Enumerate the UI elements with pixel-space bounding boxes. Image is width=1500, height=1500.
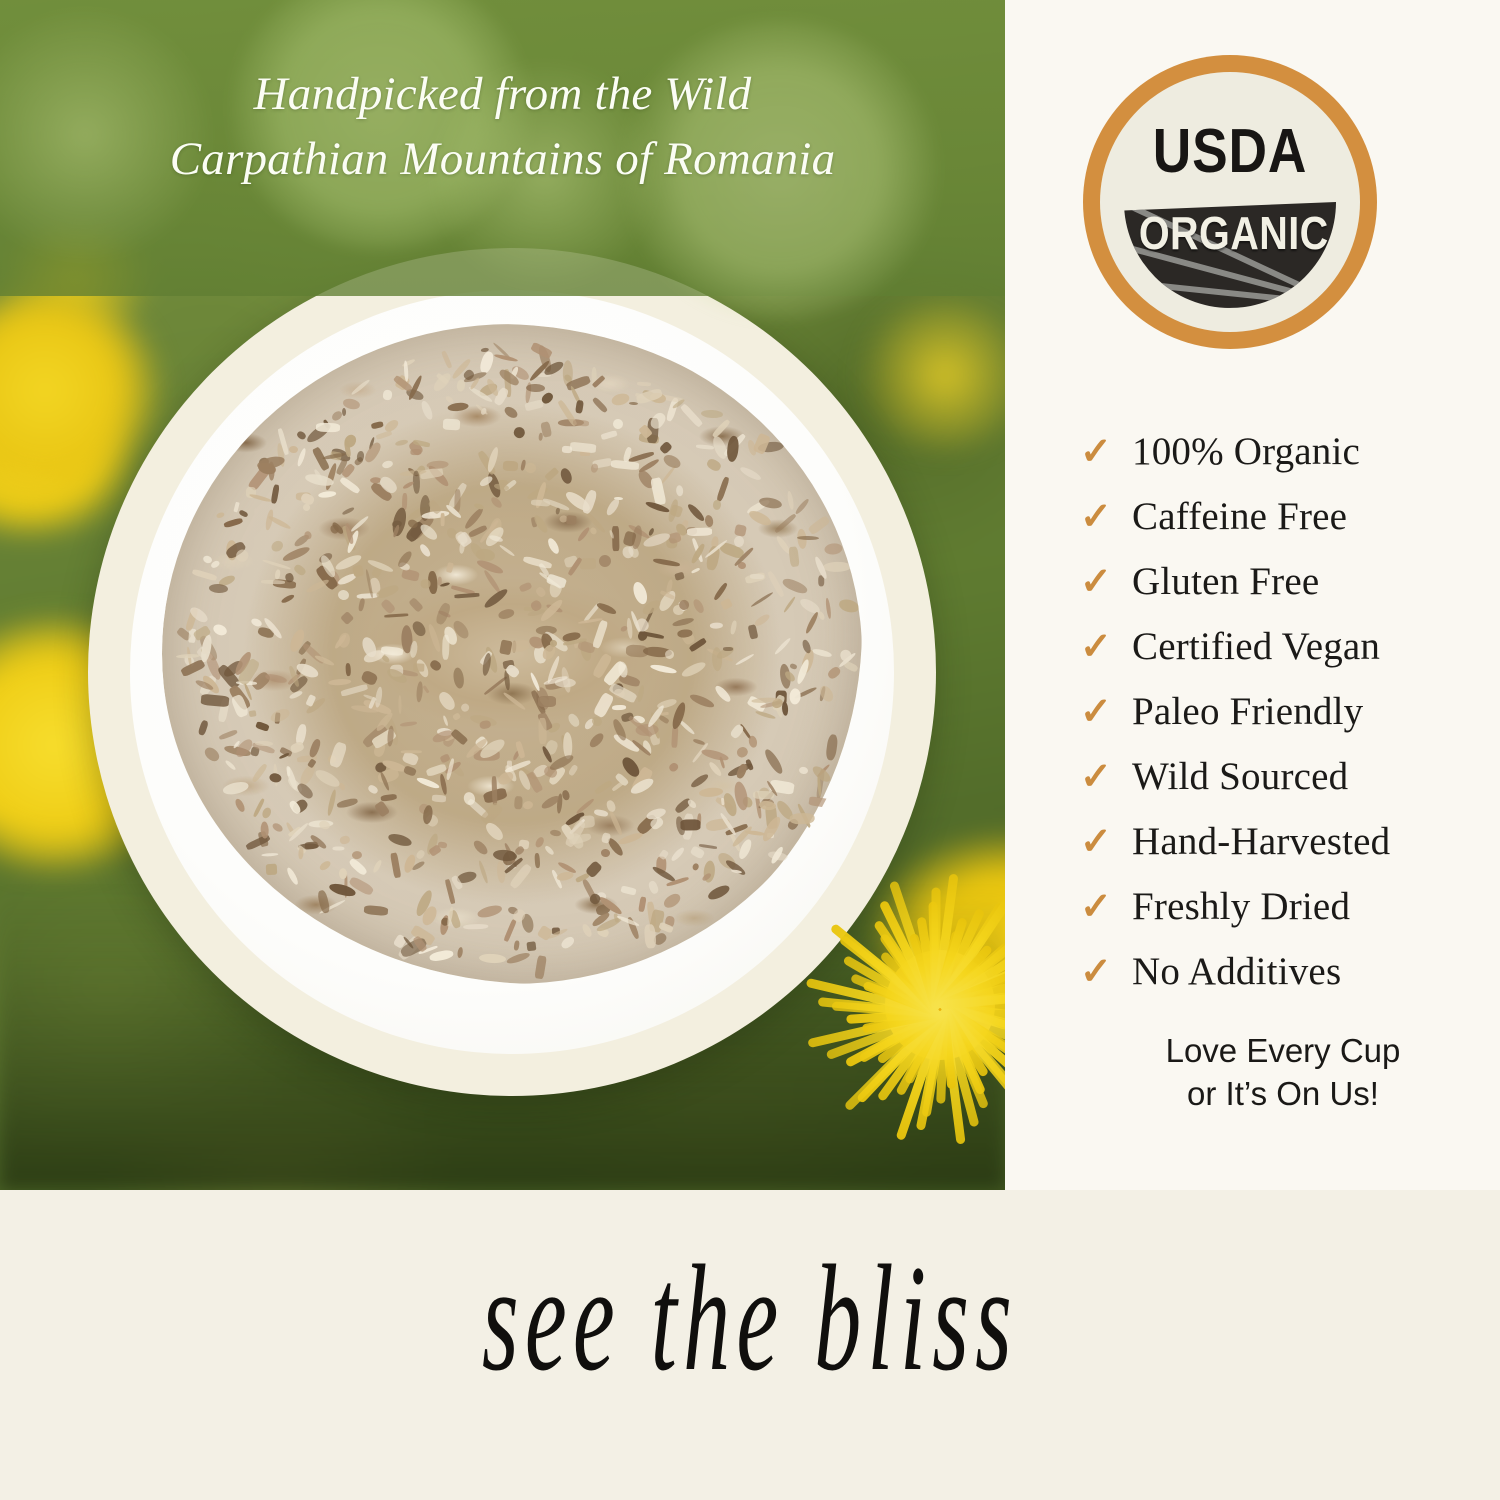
root-piece	[463, 924, 488, 930]
root-piece	[423, 686, 430, 695]
check-icon: ✓	[1080, 888, 1132, 926]
root-piece	[210, 560, 221, 570]
root-piece	[400, 721, 417, 727]
root-piece	[299, 848, 305, 861]
root-piece	[391, 852, 402, 878]
root-piece	[425, 763, 447, 777]
root-piece	[203, 745, 222, 764]
root-piece	[558, 467, 573, 486]
root-piece	[560, 935, 576, 951]
root-piece	[317, 889, 332, 914]
root-piece	[403, 765, 417, 777]
root-piece	[429, 659, 444, 673]
root-piece	[427, 624, 442, 653]
root-piece	[676, 485, 684, 497]
root-piece	[595, 601, 617, 616]
root-piece	[691, 567, 701, 574]
root-piece	[592, 620, 609, 649]
root-piece	[261, 852, 279, 856]
root-piece	[705, 457, 722, 472]
guarantee-line-1: Love Every Cup	[1083, 1030, 1483, 1073]
root-piece	[456, 379, 466, 391]
root-piece	[561, 790, 570, 802]
root-piece	[661, 891, 682, 910]
root-piece	[632, 580, 650, 605]
root-piece	[362, 440, 383, 464]
root-piece	[356, 451, 365, 462]
root-piece	[823, 542, 843, 555]
root-piece	[431, 371, 454, 394]
root-piece	[208, 583, 227, 593]
root-piece	[326, 789, 337, 817]
root-piece	[408, 597, 424, 613]
root-piece	[731, 621, 738, 635]
root-piece	[566, 515, 577, 525]
root-piece	[801, 639, 812, 654]
list-item: ✓No Additives	[1080, 952, 1500, 1017]
root-piece	[329, 741, 348, 768]
root-piece	[337, 798, 359, 809]
root-piece	[754, 613, 771, 628]
root-piece	[342, 408, 346, 416]
root-piece	[588, 731, 606, 750]
root-piece	[738, 465, 761, 482]
root-piece	[774, 513, 797, 534]
check-icon: ✓	[1080, 433, 1132, 471]
root-piece	[714, 684, 733, 704]
guarantee-line-2: or It’s On Us!	[1083, 1073, 1483, 1116]
root-piece	[723, 647, 733, 651]
root-piece	[318, 490, 337, 499]
root-piece	[215, 512, 225, 519]
check-icon: ✓	[1080, 823, 1132, 861]
root-piece	[513, 941, 519, 951]
root-piece	[394, 439, 408, 447]
root-piece	[611, 392, 631, 407]
root-piece	[360, 635, 379, 658]
root-piece	[680, 404, 704, 429]
root-piece	[409, 640, 418, 658]
root-piece	[658, 441, 673, 456]
check-icon: ✓	[1080, 693, 1132, 731]
root-piece	[176, 653, 200, 658]
root-piece	[238, 509, 248, 518]
brand-tagline: see the bliss	[285, 1242, 1215, 1394]
root-piece	[609, 810, 624, 836]
root-piece	[484, 820, 506, 843]
root-piece	[372, 859, 383, 874]
root-piece	[629, 776, 655, 797]
root-piece	[443, 715, 450, 726]
root-piece	[591, 397, 608, 414]
root-piece	[526, 941, 536, 951]
headline-line-1: Handpicked from the Wild	[0, 62, 1005, 127]
root-piece	[432, 794, 447, 802]
root-piece	[653, 557, 680, 567]
root-piece	[576, 526, 590, 543]
root-piece	[686, 502, 706, 523]
check-icon: ✓	[1080, 498, 1132, 536]
feature-list: ✓100% Organic✓Caffeine Free✓Gluten Free✓…	[1080, 432, 1500, 1017]
root-piece	[288, 446, 297, 454]
root-piece	[318, 859, 332, 872]
root-piece	[337, 590, 349, 601]
root-piece	[327, 678, 351, 686]
root-piece	[440, 513, 444, 526]
root-piece	[794, 498, 810, 515]
root-piece	[593, 780, 612, 796]
root-piece	[332, 846, 344, 850]
root-piece	[451, 728, 469, 745]
root-piece	[307, 737, 322, 758]
root-piece	[782, 701, 789, 716]
root-piece	[671, 727, 679, 748]
seal-inner-ring: USDA ORGANIC	[1100, 72, 1360, 332]
root-piece	[680, 659, 707, 678]
root-piece	[720, 598, 733, 611]
root-piece	[506, 951, 531, 965]
root-piece	[582, 489, 599, 514]
root-piece	[760, 815, 783, 844]
root-piece	[503, 404, 520, 419]
root-piece	[688, 692, 715, 710]
root-piece	[693, 738, 706, 745]
root-piece	[667, 761, 679, 773]
root-piece	[499, 544, 515, 557]
root-piece	[590, 463, 599, 474]
root-piece	[747, 508, 773, 528]
seal-organic-text: ORGANIC	[1139, 206, 1321, 260]
root-piece	[544, 845, 555, 856]
root-piece	[269, 706, 292, 724]
root-piece	[711, 419, 730, 439]
root-piece	[734, 523, 747, 536]
root-piece	[223, 518, 243, 529]
root-piece	[593, 692, 615, 718]
root-piece	[535, 955, 548, 979]
root-piece	[575, 798, 595, 815]
root-piece	[535, 586, 547, 598]
root-piece	[251, 763, 268, 784]
root-texture	[162, 324, 862, 984]
root-piece	[753, 791, 774, 800]
check-icon: ✓	[1080, 628, 1132, 666]
root-piece	[452, 667, 465, 689]
root-piece	[706, 884, 731, 903]
root-piece	[419, 400, 434, 421]
root-piece	[418, 542, 432, 558]
root-piece	[481, 652, 492, 676]
root-piece	[593, 809, 608, 818]
root-piece	[297, 448, 308, 468]
root-piece	[597, 553, 613, 569]
root-piece	[567, 712, 582, 729]
root-piece	[680, 820, 701, 831]
root-piece	[549, 829, 560, 837]
root-piece	[523, 556, 553, 570]
root-piece	[729, 723, 745, 740]
root-piece	[415, 776, 440, 791]
list-item-label: Certified Vegan	[1132, 627, 1380, 666]
check-icon: ✓	[1080, 758, 1132, 796]
root-piece	[735, 763, 749, 780]
root-piece	[789, 547, 801, 568]
root-piece	[755, 710, 777, 720]
list-item-label: No Additives	[1132, 952, 1341, 991]
root-piece	[249, 710, 257, 717]
root-piece	[699, 787, 724, 798]
root-piece	[502, 460, 518, 471]
root-piece	[387, 832, 413, 848]
root-piece	[459, 703, 470, 714]
root-piece	[748, 735, 758, 748]
root-piece	[476, 903, 503, 919]
product-photo: Handpicked from the Wild Carpathian Moun…	[0, 0, 1005, 1190]
root-piece	[382, 389, 392, 401]
root-piece	[701, 410, 723, 419]
root-piece	[350, 378, 370, 396]
root-piece	[601, 848, 611, 857]
root-piece	[299, 491, 315, 506]
root-piece	[288, 690, 303, 701]
root-piece	[783, 596, 796, 613]
root-piece	[415, 849, 426, 860]
root-piece	[601, 430, 618, 440]
root-piece	[533, 513, 551, 534]
root-piece	[479, 720, 492, 730]
list-item-label: Hand-Harvested	[1132, 822, 1390, 861]
root-piece	[285, 867, 299, 886]
root-piece	[522, 801, 533, 810]
headline-line-2: Carpathian Mountains of Romania	[0, 127, 1005, 192]
root-piece	[789, 663, 797, 670]
check-icon: ✓	[1080, 563, 1132, 601]
root-piece	[573, 419, 590, 426]
root-piece	[669, 845, 685, 862]
root-piece	[345, 663, 351, 676]
root-piece	[428, 949, 454, 963]
root-piece	[613, 418, 624, 428]
seal-usda-text: USDA	[1139, 116, 1321, 187]
root-piece	[690, 772, 710, 789]
root-piece	[773, 637, 791, 655]
root-piece	[636, 685, 645, 703]
root-piece	[692, 862, 700, 871]
root-piece	[544, 468, 559, 482]
product-infographic: Handpicked from the Wild Carpathian Moun…	[0, 0, 1500, 1500]
root-piece	[350, 515, 370, 533]
root-piece	[367, 784, 379, 795]
list-item-label: Gluten Free	[1132, 562, 1319, 601]
root-piece	[504, 919, 517, 942]
root-piece	[575, 400, 584, 414]
root-piece	[790, 812, 815, 824]
root-piece	[513, 425, 528, 439]
root-piece	[442, 419, 459, 431]
root-piece	[704, 514, 714, 527]
root-piece	[340, 611, 355, 626]
list-item-label: Caffeine Free	[1132, 497, 1347, 536]
root-piece	[275, 569, 281, 579]
root-piece	[384, 613, 408, 618]
root-piece	[370, 420, 383, 429]
root-piece	[452, 713, 461, 722]
root-piece	[471, 838, 490, 857]
headline: Handpicked from the Wild Carpathian Moun…	[0, 62, 1005, 192]
root-piece	[837, 597, 860, 614]
root-piece	[675, 572, 685, 581]
root-piece	[437, 576, 442, 585]
root-piece	[699, 844, 717, 850]
root-piece	[315, 423, 340, 433]
root-piece	[710, 623, 723, 629]
root-piece	[441, 350, 452, 368]
root-piece	[734, 536, 744, 547]
root-piece	[638, 896, 647, 911]
root-piece	[827, 665, 842, 680]
root-piece	[249, 493, 272, 503]
root-piece	[725, 435, 739, 462]
root-piece	[817, 684, 835, 704]
root-piece	[686, 798, 697, 809]
root-piece	[266, 864, 277, 876]
root-piece	[672, 617, 695, 628]
root-piece	[224, 760, 236, 772]
root-piece	[497, 608, 515, 621]
root-piece	[458, 947, 464, 958]
root-piece	[787, 491, 795, 511]
root-piece	[805, 611, 820, 635]
root-piece	[612, 705, 626, 711]
root-piece	[269, 773, 282, 784]
list-item: ✓Caffeine Free	[1080, 497, 1500, 562]
root-piece	[342, 507, 355, 516]
root-piece	[690, 542, 706, 564]
seal-face: USDA ORGANIC	[1124, 96, 1336, 308]
root-piece	[664, 649, 676, 661]
list-item: ✓Hand-Harvested	[1080, 822, 1500, 887]
list-item: ✓Freshly Dried	[1080, 887, 1500, 952]
root-piece	[763, 748, 785, 776]
root-piece	[401, 750, 422, 753]
root-piece	[374, 800, 390, 817]
root-piece	[415, 681, 423, 703]
root-piece	[659, 714, 670, 724]
root-piece	[477, 860, 489, 885]
root-piece	[520, 582, 533, 593]
root-piece	[219, 729, 238, 741]
root-piece	[524, 462, 537, 474]
list-item-label: Paleo Friendly	[1132, 692, 1363, 731]
bowl-interior	[130, 290, 894, 1054]
root-piece	[568, 764, 579, 776]
root-piece	[534, 853, 540, 868]
list-item: ✓Wild Sourced	[1080, 757, 1500, 822]
root-piece	[479, 350, 496, 374]
root-piece	[691, 598, 706, 615]
list-item: ✓Paleo Friendly	[1080, 692, 1500, 757]
brand-band: see the bliss	[0, 1190, 1500, 1500]
root-piece	[271, 485, 280, 504]
root-piece	[339, 835, 350, 845]
root-piece	[270, 539, 286, 554]
root-piece	[700, 747, 729, 762]
root-piece	[211, 622, 228, 637]
root-piece	[381, 794, 397, 802]
root-piece	[293, 564, 307, 577]
root-piece	[795, 659, 811, 686]
root-piece	[798, 766, 808, 775]
root-piece	[410, 449, 422, 456]
root-piece	[414, 664, 425, 672]
root-piece	[735, 745, 750, 759]
root-piece	[546, 537, 561, 556]
usda-organic-seal: USDA ORGANIC	[1083, 55, 1377, 349]
list-item: ✓Gluten Free	[1080, 562, 1500, 627]
root-piece	[500, 640, 513, 656]
root-piece	[750, 591, 774, 608]
list-item: ✓100% Organic	[1080, 432, 1500, 497]
root-piece	[489, 496, 503, 510]
root-piece	[313, 767, 342, 790]
root-piece	[531, 499, 550, 507]
root-piece	[825, 733, 839, 760]
root-piece	[604, 496, 621, 517]
root-piece	[823, 562, 851, 572]
root-piece	[352, 565, 364, 578]
root-piece	[530, 672, 542, 692]
root-piece	[426, 460, 448, 469]
root-piece	[446, 562, 454, 573]
root-piece	[812, 647, 833, 658]
root-piece	[376, 431, 393, 441]
root-piece	[282, 545, 312, 564]
root-piece	[255, 721, 270, 732]
root-piece	[825, 598, 832, 619]
root-piece	[809, 796, 836, 808]
root-piece	[339, 476, 361, 494]
check-icon: ✓	[1080, 953, 1132, 991]
features-panel: USDA ORGANIC ✓100% Organic✓Caffeine Free…	[1005, 0, 1500, 1190]
root-piece	[401, 480, 414, 490]
root-piece	[459, 541, 466, 553]
list-item-label: Wild Sourced	[1132, 757, 1348, 796]
root-piece	[515, 796, 524, 810]
root-piece	[410, 619, 428, 638]
root-piece	[280, 593, 295, 604]
root-piece	[198, 720, 209, 736]
dandelion-root-pile	[162, 324, 862, 984]
list-item-label: Freshly Dried	[1132, 887, 1350, 926]
root-piece	[222, 780, 249, 796]
root-piece	[348, 857, 369, 877]
root-piece	[807, 515, 830, 535]
root-piece	[380, 598, 397, 615]
root-piece	[357, 598, 365, 612]
root-piece	[381, 459, 393, 469]
root-piece	[687, 528, 712, 537]
root-piece	[713, 500, 721, 511]
root-piece	[715, 476, 729, 502]
root-piece	[537, 924, 554, 941]
root-piece	[192, 568, 218, 581]
root-piece	[789, 688, 801, 705]
root-piece	[503, 692, 527, 711]
root-piece	[260, 806, 272, 820]
root-piece	[637, 382, 651, 387]
root-piece	[611, 780, 625, 792]
root-piece	[781, 576, 808, 595]
